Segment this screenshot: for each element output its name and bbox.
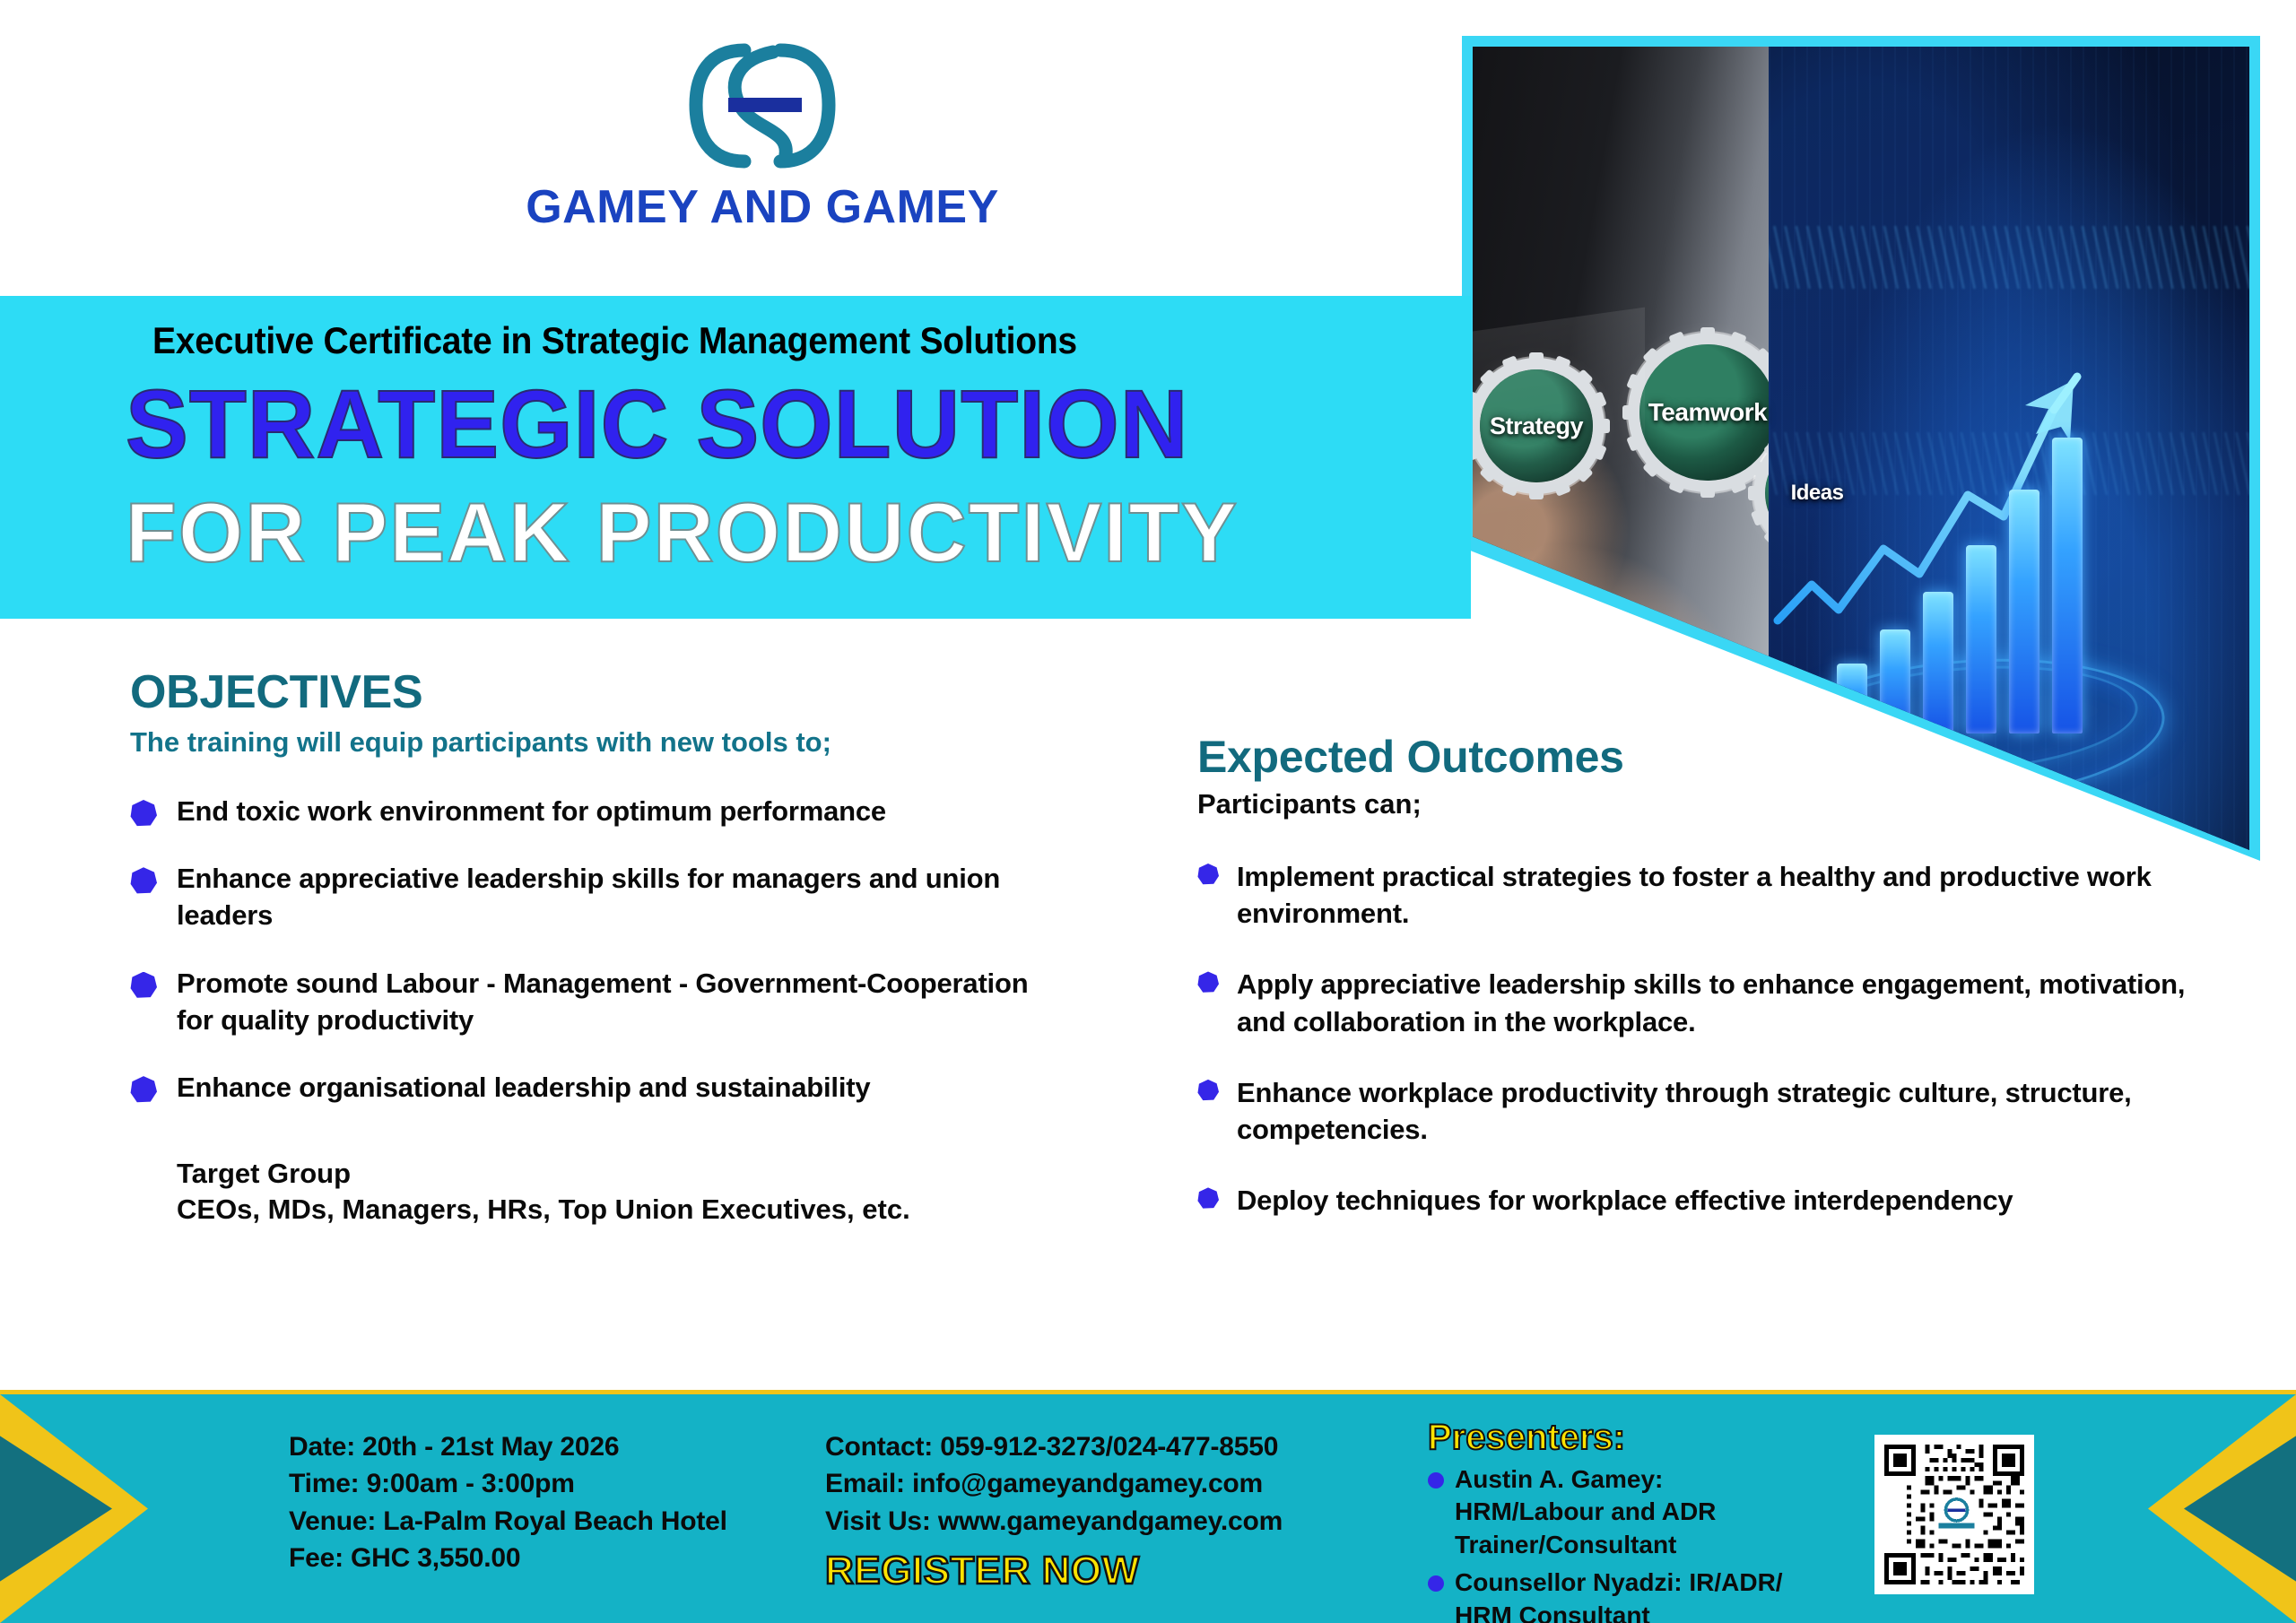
- list-item: End toxic work environment for optimum p…: [130, 793, 1036, 829]
- list-item-text: Implement practical strategies to foster…: [1237, 858, 2211, 932]
- footer-date: Date: 20th - 21st May 2026: [289, 1428, 727, 1465]
- bullet-dot-icon: [130, 800, 157, 827]
- outcomes-title: Expected Outcomes: [1197, 731, 2211, 783]
- subheadline: FOR PEAK PRODUCTIVITY: [126, 484, 1239, 581]
- list-item: Austin A. Gamey: HRM/Labour and ADR Trai…: [1428, 1463, 1813, 1561]
- list-item: Deploy techniques for workplace effectiv…: [1197, 1182, 2211, 1219]
- brand-name: GAMEY AND GAMEY: [484, 180, 1040, 234]
- target-group-heading: Target Group: [177, 1158, 1036, 1190]
- footer-contact: Contact: 059-912-3273/024-477-8550 Email…: [825, 1428, 1283, 1593]
- objectives-list: End toxic work environment for optimum p…: [130, 793, 1036, 1106]
- gears-photo: Strategy Teamwork Ideas: [1473, 47, 1769, 850]
- footer-website[interactable]: Visit Us: www.gameyandgamey.com: [825, 1503, 1283, 1540]
- brand-logo-block: GAMEY AND GAMEY: [484, 36, 1040, 234]
- gear-strategy: Strategy: [1480, 369, 1593, 482]
- gear-teamwork-label: Teamwork: [1648, 398, 1767, 427]
- hero-image-inner: Strategy Teamwork Ideas: [1473, 47, 2249, 850]
- list-item-text: Enhance workplace productivity through s…: [1237, 1074, 2211, 1148]
- list-item-text: End toxic work environment for optimum p…: [177, 793, 886, 829]
- bullet-dot-icon: [1197, 864, 1219, 885]
- certificate-eyebrow: Executive Certificate in Strategic Manag…: [152, 319, 1077, 362]
- list-item-text: Apply appreciative leadership skills to …: [1237, 966, 2211, 1039]
- list-item: Implement practical strategies to foster…: [1197, 858, 2211, 932]
- chevron-right-decor-icon: [2000, 1394, 2296, 1623]
- bullet-dot-icon: [130, 972, 157, 999]
- list-item-text: Promote sound Labour - Management - Gove…: [177, 965, 1036, 1038]
- target-group-body: CEOs, MDs, Managers, HRs, Top Union Exec…: [177, 1193, 1036, 1226]
- bullet-dot-icon: [1428, 1575, 1444, 1592]
- bullet-dot-icon: [1197, 1187, 1219, 1209]
- headline: STRATEGIC SOLUTION: [126, 368, 1188, 480]
- bullet-dot-icon: [1197, 971, 1219, 993]
- list-item: Promote sound Labour - Management - Gove…: [130, 965, 1036, 1038]
- footer-fee: Fee: GHC 3,550.00: [289, 1540, 727, 1576]
- presenters-title: Presenters:: [1428, 1418, 1813, 1458]
- presenter-name: Counsellor Nyadzi: IR/ADR/ HRM Consultan…: [1455, 1567, 1813, 1623]
- list-item-text: Enhance appreciative leadership skills f…: [177, 860, 1036, 933]
- gear-ideas-label: Ideas: [1791, 481, 1844, 506]
- outcomes-subtitle: Participants can;: [1197, 788, 2211, 820]
- objectives-title: OBJECTIVES: [130, 665, 1036, 719]
- footer-email[interactable]: Email: info@gameyandgamey.com: [825, 1465, 1283, 1502]
- list-item: Apply appreciative leadership skills to …: [1197, 966, 2211, 1039]
- interlocking-rings-logo-icon: [673, 36, 852, 175]
- outcomes-list: Implement practical strategies to foster…: [1197, 858, 2211, 1219]
- footer-venue: Venue: La-Palm Royal Beach Hotel: [289, 1503, 727, 1540]
- list-item: Enhance organisational leadership and su…: [130, 1069, 1036, 1106]
- outcomes-section: Expected Outcomes Participants can; Impl…: [1197, 731, 2211, 1254]
- bullet-dot-icon: [1197, 1080, 1219, 1101]
- qr-code-icon: [1880, 1440, 2029, 1589]
- list-item-text: Deploy techniques for workplace effectiv…: [1237, 1182, 2013, 1219]
- presenter-name: Austin A. Gamey: HRM/Labour and ADR Trai…: [1455, 1463, 1813, 1561]
- bullet-dot-icon: [130, 867, 157, 894]
- list-item: Enhance appreciative leadership skills f…: [130, 860, 1036, 933]
- footer-logistics: Date: 20th - 21st May 2026 Time: 9:00am …: [289, 1428, 727, 1577]
- growth-chart-photo: [1769, 47, 2249, 850]
- list-item-text: Enhance organisational leadership and su…: [177, 1069, 870, 1106]
- bullet-dot-icon: [130, 1076, 157, 1103]
- chevron-left-decor-icon: [0, 1394, 296, 1623]
- objectives-subtitle: The training will equip participants wit…: [130, 726, 1036, 759]
- list-item: Counsellor Nyadzi: IR/ADR/ HRM Consultan…: [1428, 1567, 1813, 1623]
- footer-presenters: Presenters: Austin A. Gamey: HRM/Labour …: [1428, 1418, 1813, 1623]
- title-banner: Executive Certificate in Strategic Manag…: [0, 296, 1471, 619]
- qr-code[interactable]: [1874, 1435, 2034, 1594]
- bullet-dot-icon: [1428, 1472, 1444, 1488]
- register-now-cta[interactable]: REGISTER NOW: [825, 1549, 1283, 1593]
- target-group-block: Target Group CEOs, MDs, Managers, HRs, T…: [177, 1158, 1036, 1226]
- footer-time: Time: 9:00am - 3:00pm: [289, 1465, 727, 1502]
- gear-strategy-label: Strategy: [1490, 412, 1583, 440]
- list-item: Enhance workplace productivity through s…: [1197, 1074, 2211, 1148]
- objectives-section: OBJECTIVES The training will equip parti…: [130, 665, 1036, 1226]
- footer-phone[interactable]: Contact: 059-912-3273/024-477-8550: [825, 1428, 1283, 1465]
